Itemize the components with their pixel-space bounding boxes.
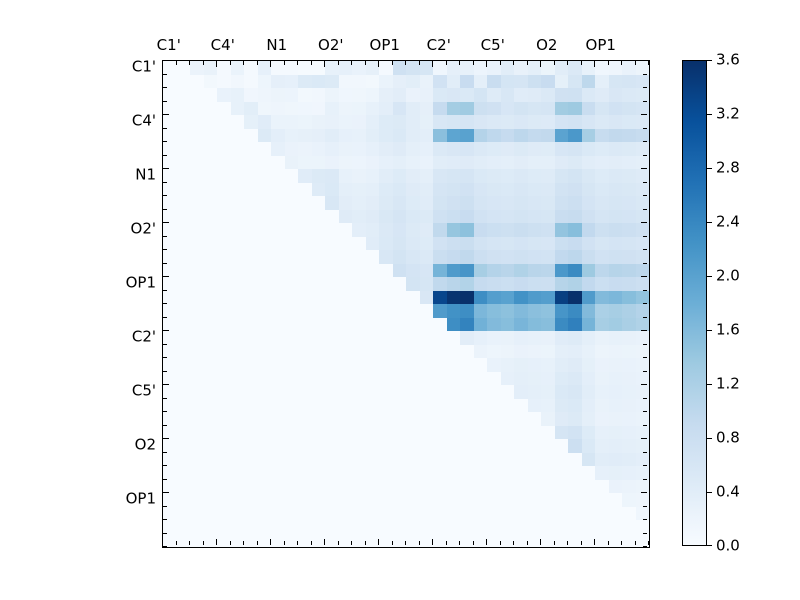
- x-tick: [392, 541, 393, 545]
- heatmap-cell: [474, 385, 488, 399]
- x-tick: [230, 61, 231, 65]
- heatmap-cell: [460, 493, 474, 507]
- heatmap-cell: [163, 318, 177, 332]
- heatmap-cell: [231, 466, 245, 480]
- heatmap-cell: [460, 534, 474, 548]
- heatmap-cell: [460, 480, 474, 494]
- heatmap-cell: [420, 196, 434, 210]
- y-tick: [643, 465, 647, 466]
- heatmap-cell: [528, 466, 542, 480]
- heatmap-cell: [582, 318, 596, 332]
- heatmap-cell: [298, 183, 312, 197]
- x-tick: [351, 61, 352, 65]
- y-tick: [643, 128, 647, 129]
- heatmap-cell: [528, 88, 542, 102]
- heatmap-cell: [514, 426, 528, 440]
- heatmap-cell: [298, 358, 312, 372]
- heatmap-cell: [433, 75, 447, 89]
- heatmap-cell: [379, 453, 393, 467]
- heatmap-cell: [420, 156, 434, 170]
- heatmap-cell: [420, 412, 434, 426]
- heatmap-cell: [217, 466, 231, 480]
- x-tick: [554, 61, 555, 65]
- y-tick: [163, 357, 167, 358]
- heatmap-cell: [555, 129, 569, 143]
- heatmap-cell: [352, 169, 366, 183]
- y-tick: [163, 411, 167, 412]
- heatmap-cell: [204, 372, 218, 386]
- heatmap-cell: [406, 61, 420, 75]
- heatmap-cell: [555, 183, 569, 197]
- heatmap-cell: [474, 223, 488, 237]
- heatmap-cell: [258, 277, 272, 291]
- heatmap-cell: [285, 183, 299, 197]
- heatmap-cell: [528, 493, 542, 507]
- heatmap-cell: [568, 169, 582, 183]
- heatmap-cell: [325, 264, 339, 278]
- heatmap-cell: [393, 318, 407, 332]
- heatmap-cell: [312, 304, 326, 318]
- heatmap-cell: [177, 115, 191, 129]
- heatmap-cell: [258, 75, 272, 89]
- heatmap-cell: [609, 115, 623, 129]
- heatmap-cell: [285, 210, 299, 224]
- heatmap-cell: [501, 129, 515, 143]
- colorbar-tick: [707, 492, 712, 493]
- heatmap-cell: [244, 507, 258, 521]
- x-tick: [297, 541, 298, 545]
- y-tick: [163, 87, 167, 88]
- heatmap-cell: [204, 102, 218, 116]
- heatmap-cell: [339, 129, 353, 143]
- heatmap-cell: [609, 493, 623, 507]
- heatmap-cell: [285, 88, 299, 102]
- heatmap-cell: [528, 237, 542, 251]
- y-tick: [163, 290, 167, 291]
- heatmap-cell: [177, 480, 191, 494]
- x-tick: [216, 539, 217, 545]
- heatmap-cell: [258, 493, 272, 507]
- heatmap-cell: [622, 142, 636, 156]
- y-tick: [163, 263, 167, 264]
- heatmap-cell: [568, 412, 582, 426]
- heatmap-cell: [366, 520, 380, 534]
- heatmap-cell: [379, 250, 393, 264]
- heatmap-cell: [285, 291, 299, 305]
- x-tick-label: OP1: [370, 38, 400, 53]
- heatmap-cell: [352, 88, 366, 102]
- heatmap-cell: [312, 61, 326, 75]
- heatmap-cell: [568, 115, 582, 129]
- heatmap-cell: [582, 291, 596, 305]
- heatmap-cell: [366, 129, 380, 143]
- heatmap-cell: [487, 223, 501, 237]
- heatmap-cell: [217, 196, 231, 210]
- heatmap-cell: [177, 358, 191, 372]
- heatmap-cell: [622, 129, 636, 143]
- heatmap-cell: [433, 493, 447, 507]
- heatmap-cell: [379, 115, 393, 129]
- heatmap-cell: [312, 520, 326, 534]
- heatmap-cell: [204, 88, 218, 102]
- heatmap-cell: [231, 426, 245, 440]
- heatmap-cell: [487, 399, 501, 413]
- heatmap-cell: [312, 264, 326, 278]
- heatmap-cell: [231, 250, 245, 264]
- heatmap-cell: [460, 453, 474, 467]
- heatmap-cell: [460, 250, 474, 264]
- heatmap-cell: [339, 196, 353, 210]
- heatmap-cell: [366, 264, 380, 278]
- heatmap-cell: [366, 291, 380, 305]
- heatmap-cell: [312, 277, 326, 291]
- heatmap-cell: [541, 291, 555, 305]
- heatmap-cell: [568, 480, 582, 494]
- heatmap-cell: [460, 277, 474, 291]
- heatmap-cell: [190, 61, 204, 75]
- heatmap-cell: [420, 250, 434, 264]
- heatmap-cell: [501, 169, 515, 183]
- heatmap-cell: [582, 250, 596, 264]
- x-tick: [594, 539, 595, 545]
- heatmap-cell: [366, 480, 380, 494]
- heatmap-cell: [190, 102, 204, 116]
- y-tick: [163, 371, 167, 372]
- heatmap-cell: [582, 304, 596, 318]
- x-tick: [284, 61, 285, 65]
- heatmap-cell: [312, 169, 326, 183]
- heatmap-cell: [244, 466, 258, 480]
- heatmap-cell: [177, 102, 191, 116]
- heatmap-cell: [636, 318, 650, 332]
- heatmap-cell: [325, 358, 339, 372]
- heatmap-cell: [487, 196, 501, 210]
- x-tick: [446, 541, 447, 545]
- heatmap-cell: [582, 156, 596, 170]
- heatmap-cell: [271, 102, 285, 116]
- heatmap-cell: [285, 345, 299, 359]
- y-tick: [163, 128, 167, 129]
- heatmap-cell: [528, 61, 542, 75]
- heatmap-cell: [433, 277, 447, 291]
- heatmap-cell: [622, 169, 636, 183]
- heatmap-cell: [474, 291, 488, 305]
- heatmap-cell: [163, 169, 177, 183]
- heatmap-cell: [420, 331, 434, 345]
- heatmap-cell: [541, 75, 555, 89]
- heatmap-cell: [460, 196, 474, 210]
- heatmap-cell: [217, 399, 231, 413]
- heatmap-cell: [393, 399, 407, 413]
- heatmap-cell: [622, 75, 636, 89]
- heatmap-cell: [393, 277, 407, 291]
- heatmap-cell: [528, 453, 542, 467]
- heatmap-cell: [285, 304, 299, 318]
- heatmap-cell: [393, 412, 407, 426]
- heatmap-cell: [231, 277, 245, 291]
- heatmap-cell: [177, 196, 191, 210]
- y-tick: [641, 438, 647, 439]
- x-tick: [527, 541, 528, 545]
- colorbar-tick: [707, 60, 712, 61]
- heatmap-cell: [339, 399, 353, 413]
- heatmap-cell: [474, 129, 488, 143]
- heatmap-cell: [447, 88, 461, 102]
- x-tick-label: O2: [536, 38, 557, 53]
- x-tick: [311, 61, 312, 65]
- heatmap-cell: [190, 480, 204, 494]
- heatmap-cell: [568, 264, 582, 278]
- heatmap-cell: [541, 318, 555, 332]
- heatmap-cell: [285, 250, 299, 264]
- heatmap-cell: [420, 493, 434, 507]
- heatmap-cell: [163, 61, 177, 75]
- heatmap-cell: [447, 277, 461, 291]
- heatmap-cell: [501, 291, 515, 305]
- heatmap-cell: [393, 237, 407, 251]
- colorbar-tick-label: 0.0: [716, 539, 740, 554]
- heatmap-cell: [474, 142, 488, 156]
- heatmap-cell: [244, 439, 258, 453]
- heatmap-cell: [217, 412, 231, 426]
- heatmap-cell: [406, 277, 420, 291]
- heatmap-cell: [217, 439, 231, 453]
- heatmap-cell: [163, 493, 177, 507]
- heatmap-cell: [298, 453, 312, 467]
- heatmap-cell: [582, 534, 596, 548]
- heatmap-cell: [204, 520, 218, 534]
- heatmap-cell: [325, 75, 339, 89]
- colorbar-tick: [707, 545, 712, 546]
- heatmap-cell: [298, 61, 312, 75]
- heatmap-cell: [420, 237, 434, 251]
- heatmap-cell: [190, 277, 204, 291]
- heatmap-cell: [217, 115, 231, 129]
- heatmap-cell: [460, 237, 474, 251]
- heatmap-cell: [298, 507, 312, 521]
- heatmap-cell: [271, 399, 285, 413]
- heatmap-cell: [231, 196, 245, 210]
- heatmap-cell: [379, 520, 393, 534]
- heatmap-cell: [433, 534, 447, 548]
- heatmap-cell: [366, 345, 380, 359]
- heatmap-cell: [298, 520, 312, 534]
- heatmap-cell: [555, 385, 569, 399]
- heatmap-cell: [352, 453, 366, 467]
- heatmap-cell: [636, 61, 650, 75]
- heatmap-cell: [163, 210, 177, 224]
- y-tick: [163, 344, 167, 345]
- heatmap-cell: [339, 426, 353, 440]
- heatmap-cell: [501, 345, 515, 359]
- colorbar-tick: [707, 114, 712, 115]
- heatmap-cell: [474, 250, 488, 264]
- heatmap-cell: [568, 237, 582, 251]
- heatmap-cell: [325, 480, 339, 494]
- heatmap-cell: [271, 453, 285, 467]
- heatmap-cell: [244, 493, 258, 507]
- heatmap-cell: [298, 412, 312, 426]
- y-tick: [163, 519, 167, 520]
- heatmap-cell: [460, 412, 474, 426]
- heatmap-cell: [541, 493, 555, 507]
- heatmap-cell: [474, 345, 488, 359]
- heatmap-cell: [636, 291, 650, 305]
- x-tick: [648, 541, 649, 545]
- heatmap-cell: [447, 493, 461, 507]
- heatmap-cell: [420, 277, 434, 291]
- heatmap-cell: [163, 439, 177, 453]
- heatmap-cell: [568, 88, 582, 102]
- y-tick: [641, 168, 647, 169]
- heatmap-cell: [541, 196, 555, 210]
- heatmap-cell: [622, 453, 636, 467]
- heatmap-cell: [379, 304, 393, 318]
- y-tick: [643, 87, 647, 88]
- heatmap-cell: [595, 102, 609, 116]
- heatmap-cell: [595, 358, 609, 372]
- heatmap-cell: [366, 169, 380, 183]
- heatmap-cell: [460, 331, 474, 345]
- y-tick: [163, 141, 167, 142]
- heatmap-cell: [474, 75, 488, 89]
- heatmap-cell: [568, 156, 582, 170]
- heatmap-cell: [379, 385, 393, 399]
- heatmap-cell: [595, 129, 609, 143]
- heatmap-cell: [420, 142, 434, 156]
- y-tick: [643, 195, 647, 196]
- heatmap-cell: [204, 399, 218, 413]
- heatmap-cell: [555, 426, 569, 440]
- heatmap-cell: [204, 210, 218, 224]
- heatmap-cell: [636, 399, 650, 413]
- heatmap-cell: [352, 439, 366, 453]
- heatmap-cell: [433, 291, 447, 305]
- heatmap-cell: [217, 426, 231, 440]
- heatmap-cell: [217, 345, 231, 359]
- heatmap-cell: [379, 183, 393, 197]
- heatmap-cell: [244, 169, 258, 183]
- heatmap-cell: [177, 129, 191, 143]
- heatmap-cell: [285, 142, 299, 156]
- heatmap-cell: [420, 439, 434, 453]
- heatmap-cell: [217, 331, 231, 345]
- heatmap-cell: [325, 183, 339, 197]
- y-tick: [163, 114, 169, 115]
- x-tick: [257, 541, 258, 545]
- heatmap-cell: [555, 520, 569, 534]
- heatmap-cell: [379, 426, 393, 440]
- heatmap-cell: [420, 520, 434, 534]
- heatmap-cell: [352, 156, 366, 170]
- heatmap-cell: [433, 304, 447, 318]
- heatmap-cell: [595, 223, 609, 237]
- heatmap-cell: [460, 385, 474, 399]
- heatmap-cell: [568, 75, 582, 89]
- heatmap-cell: [433, 237, 447, 251]
- heatmap-cell: [582, 466, 596, 480]
- heatmap-cell: [636, 439, 650, 453]
- heatmap-cell: [366, 453, 380, 467]
- heatmap-cell: [568, 210, 582, 224]
- heatmap-cell: [217, 385, 231, 399]
- heatmap-cell: [190, 399, 204, 413]
- heatmap-cell: [568, 277, 582, 291]
- heatmap-cell: [339, 142, 353, 156]
- heatmap-cell: [622, 358, 636, 372]
- heatmap-cell: [285, 358, 299, 372]
- heatmap-cell: [487, 318, 501, 332]
- heatmap-cell: [609, 264, 623, 278]
- heatmap-cell: [366, 237, 380, 251]
- heatmap-cell: [420, 61, 434, 75]
- heatmap-cell: [312, 250, 326, 264]
- heatmap-cell: [636, 183, 650, 197]
- heatmap-cell: [514, 385, 528, 399]
- heatmap-cell: [244, 453, 258, 467]
- heatmap-cell: [555, 358, 569, 372]
- heatmap-cell: [609, 75, 623, 89]
- heatmap-cell: [244, 372, 258, 386]
- heatmap-cell: [163, 453, 177, 467]
- heatmap-cell: [339, 520, 353, 534]
- heatmap-cell: [514, 223, 528, 237]
- heatmap-cell: [298, 304, 312, 318]
- x-tick: [554, 541, 555, 545]
- heatmap-cell: [609, 412, 623, 426]
- heatmap-cell: [379, 318, 393, 332]
- x-tick: [513, 61, 514, 65]
- heatmap-cell: [433, 129, 447, 143]
- heatmap-cell: [244, 412, 258, 426]
- x-tick: [540, 61, 541, 67]
- heatmap-cell: [258, 115, 272, 129]
- heatmap-cell: [393, 507, 407, 521]
- heatmap-cell: [474, 237, 488, 251]
- heatmap-cell: [298, 277, 312, 291]
- heatmap-cell: [501, 61, 515, 75]
- y-tick: [641, 492, 647, 493]
- heatmap-cell: [244, 358, 258, 372]
- heatmap-cell: [636, 250, 650, 264]
- heatmap-cell: [460, 129, 474, 143]
- heatmap-cell: [366, 210, 380, 224]
- heatmap-cell: [487, 466, 501, 480]
- y-tick: [163, 533, 167, 534]
- heatmap-cell: [514, 331, 528, 345]
- y-tick: [643, 209, 647, 210]
- heatmap-cell: [325, 520, 339, 534]
- heatmap-cell: [460, 75, 474, 89]
- heatmap-cell: [568, 358, 582, 372]
- heatmap-cell: [501, 426, 515, 440]
- heatmap-cell: [460, 156, 474, 170]
- heatmap-cell: [487, 331, 501, 345]
- heatmap-cell: [244, 250, 258, 264]
- heatmap-cell: [595, 291, 609, 305]
- heatmap-cell: [177, 534, 191, 548]
- heatmap-cell: [190, 385, 204, 399]
- heatmap-cell: [541, 466, 555, 480]
- heatmap-cell: [366, 493, 380, 507]
- heatmap-cell: [298, 399, 312, 413]
- heatmap-cell: [501, 439, 515, 453]
- heatmap-cell: [514, 291, 528, 305]
- heatmap-cell: [433, 439, 447, 453]
- heatmap-cell: [285, 115, 299, 129]
- heatmap-cell: [285, 331, 299, 345]
- heatmap-cell: [568, 399, 582, 413]
